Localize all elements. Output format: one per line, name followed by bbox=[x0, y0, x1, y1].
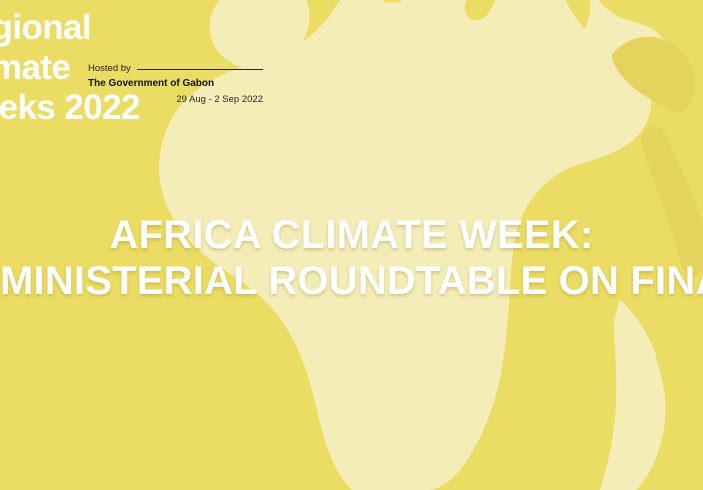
hosted-by-row: Hosted by bbox=[88, 63, 263, 75]
event-banner: Regional Climate Weeks 2022 Hosted by Th… bbox=[0, 0, 703, 490]
logo-line-regional: Regional bbox=[0, 8, 208, 48]
event-dates: 29 Aug - 2 Sep 2022 bbox=[88, 93, 263, 106]
hosted-by-label: Hosted by bbox=[88, 63, 131, 75]
hosted-by-block: Hosted by The Government of Gabon 29 Aug… bbox=[88, 63, 263, 106]
host-organization-name: The Government of Gabon bbox=[88, 77, 263, 91]
hosted-by-divider bbox=[137, 69, 263, 70]
